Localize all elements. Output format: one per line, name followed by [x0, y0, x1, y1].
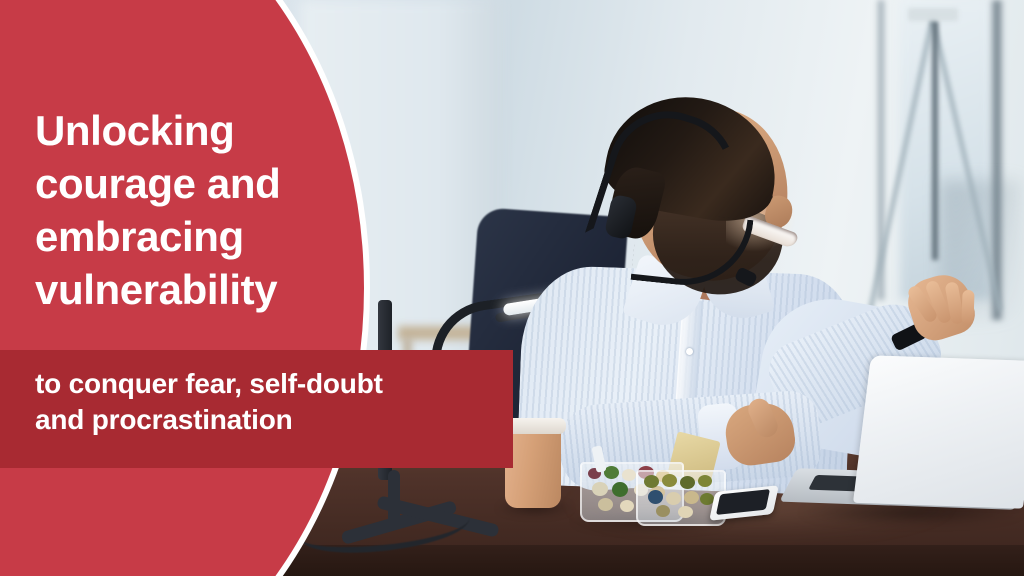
snack-piece [648, 490, 663, 504]
subtitle: to conquer fear, self-doubt and procrast… [35, 366, 505, 438]
headline-line-4: vulnerability [35, 263, 365, 316]
snack-piece [698, 475, 712, 487]
headline: Unlocking courage and embracing vulnerab… [35, 104, 365, 316]
laptop-screen-lid [853, 355, 1024, 508]
headline-line-2: courage and [35, 157, 365, 210]
snack-piece [680, 476, 695, 489]
finger [961, 290, 974, 324]
salad-piece [612, 482, 628, 497]
snack-piece [666, 492, 681, 505]
subtitle-line-2: and procrastination [35, 402, 505, 438]
subtitle-line-1: to conquer fear, self-doubt [35, 366, 505, 402]
snack-piece [684, 491, 699, 504]
salad-piece [620, 500, 634, 512]
salad-piece [604, 466, 619, 479]
snack-piece [656, 505, 670, 517]
salad-piece [592, 482, 608, 496]
snack-piece [662, 474, 677, 487]
headline-line-3: embracing [35, 210, 365, 263]
shirt-button [686, 348, 693, 355]
promo-banner: Unlocking courage and embracing vulnerab… [0, 0, 1024, 576]
salad-piece [598, 498, 613, 511]
snack-piece [678, 506, 693, 518]
coffee-cup [505, 424, 561, 508]
salad-piece [622, 469, 636, 481]
headline-line-1: Unlocking [35, 104, 365, 157]
snack-piece [644, 475, 659, 488]
